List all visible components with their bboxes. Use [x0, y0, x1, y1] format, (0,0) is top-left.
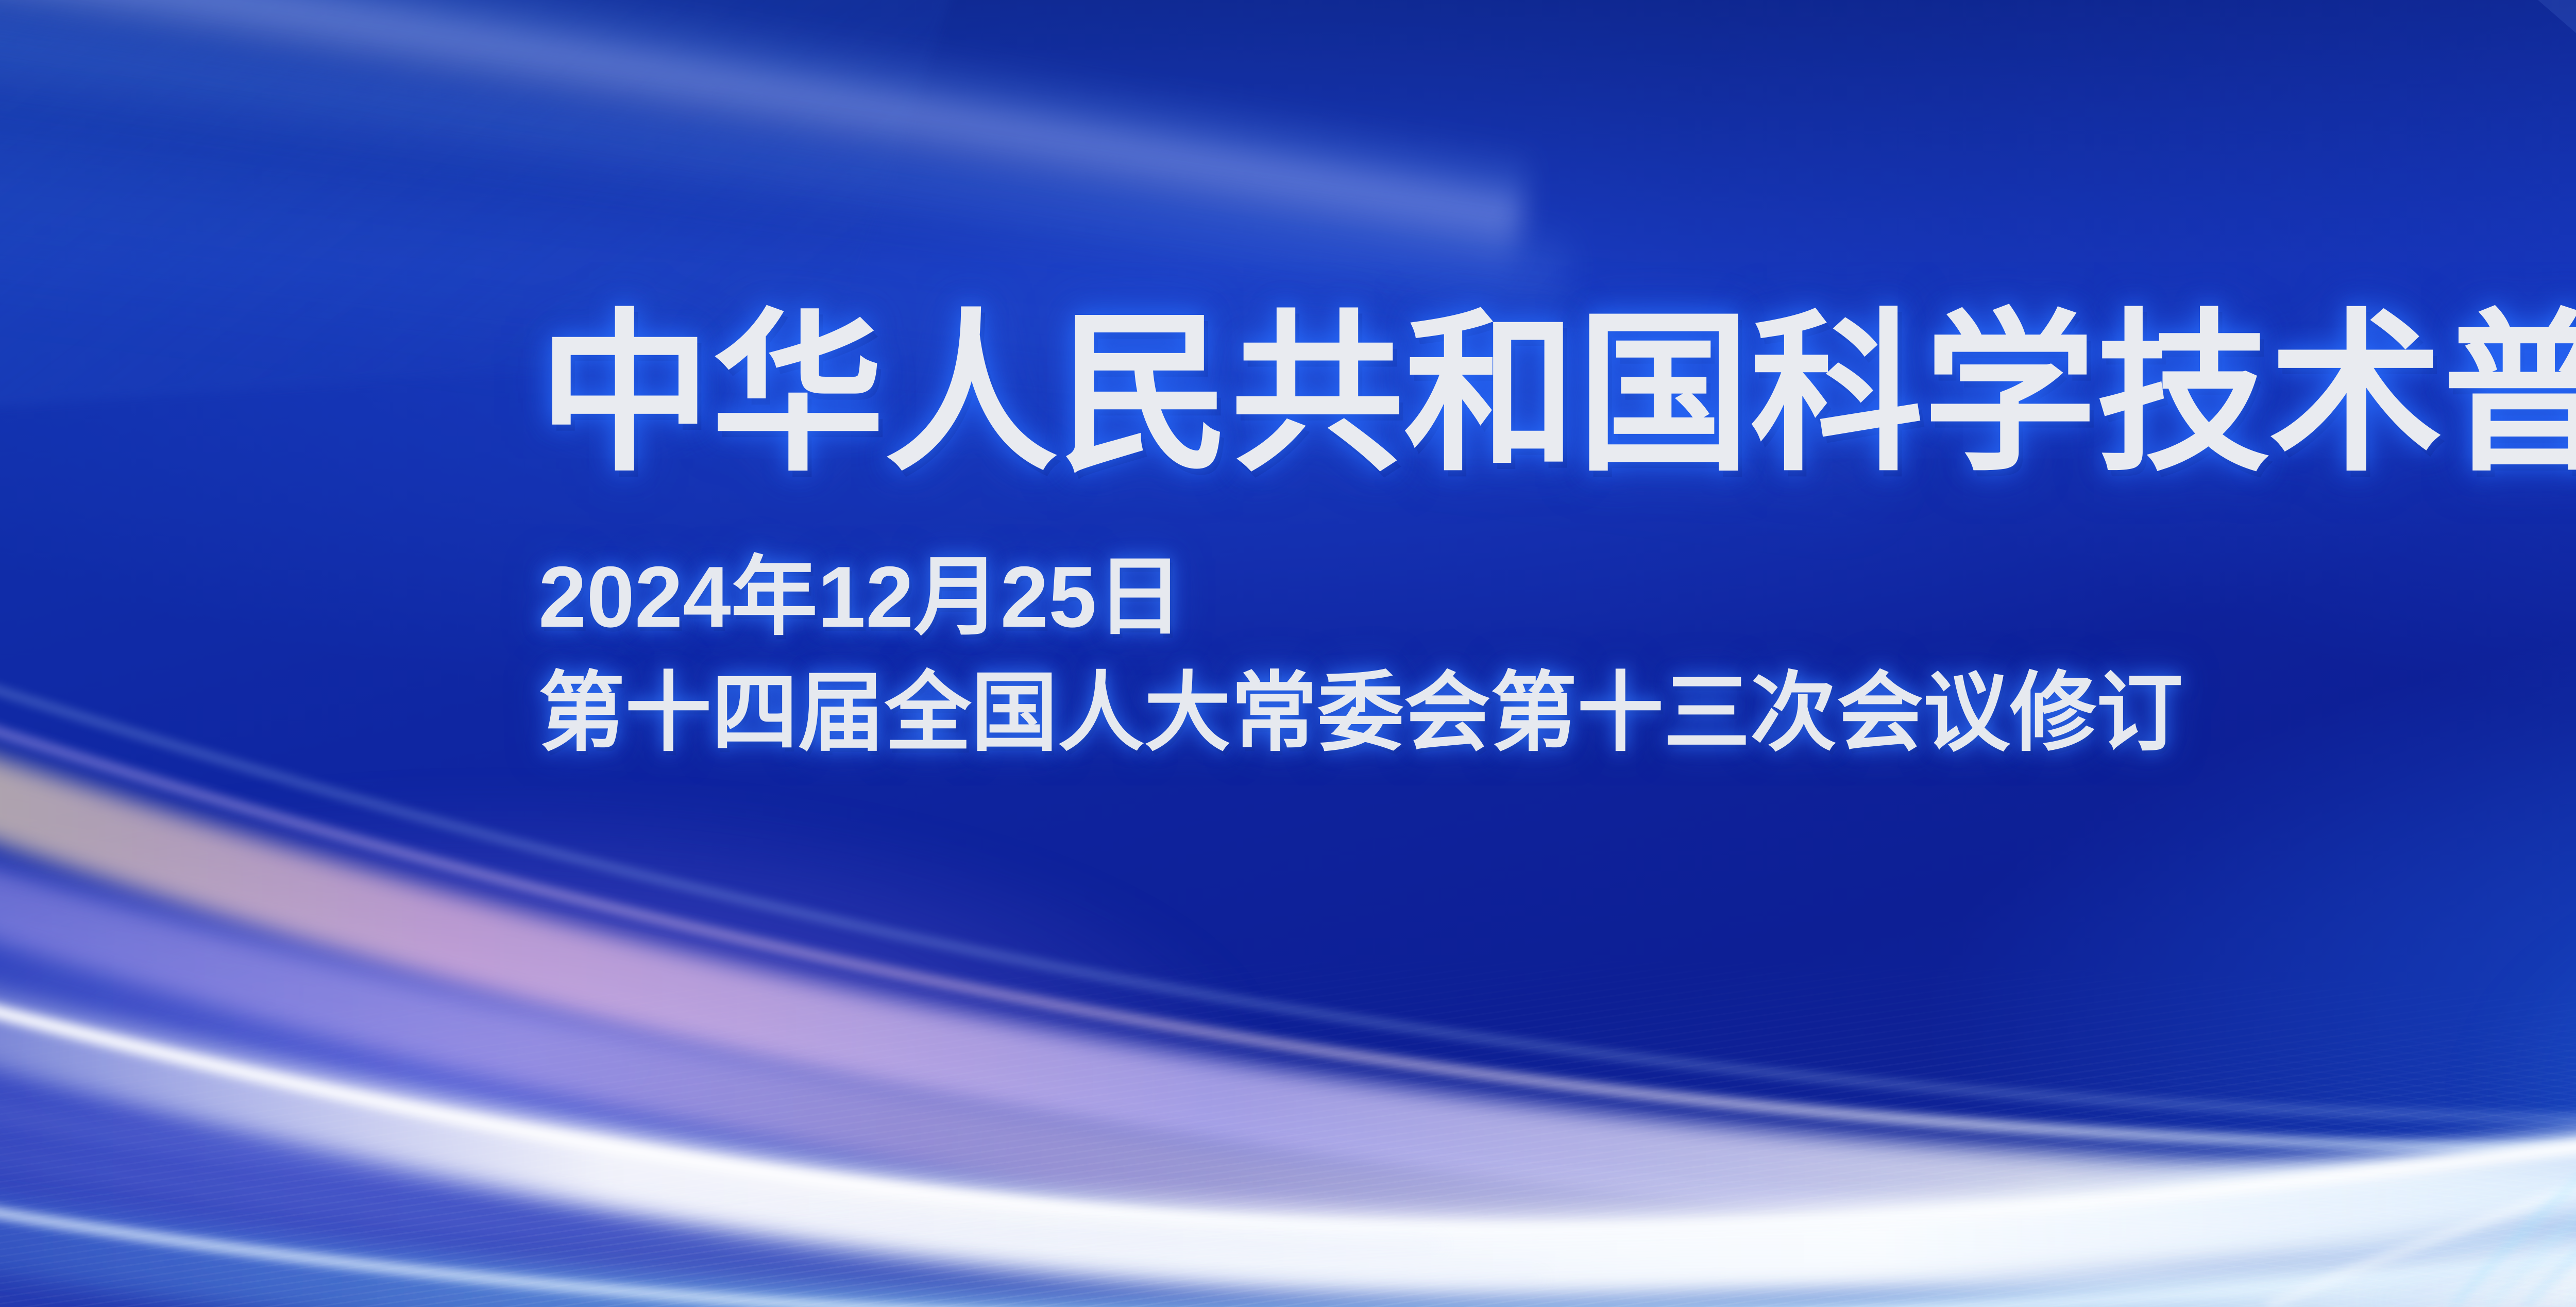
chevron-icon-2 [2550, 0, 2576, 247]
page-title: 中华人民共和国科学技术普及法 [538, 308, 2576, 481]
banner-subtitle: 2024年12月25日 第十四届全国人大常委会第十三次会议修订 [538, 481, 2576, 771]
law-title-banner: 中华人民共和国科学技术普及法 2024年12月25日 第十四届全国人大常委会第十… [0, 0, 2576, 1307]
banner-text-block: 中华人民共和国科学技术普及法 2024年12月25日 第十四届全国人大常委会第十… [538, 308, 2576, 771]
subtitle-session-line: 第十四届全国人大常委会第十三次会议修订 [538, 655, 2576, 771]
subtitle-date-line: 2024年12月25日 [538, 539, 2576, 655]
